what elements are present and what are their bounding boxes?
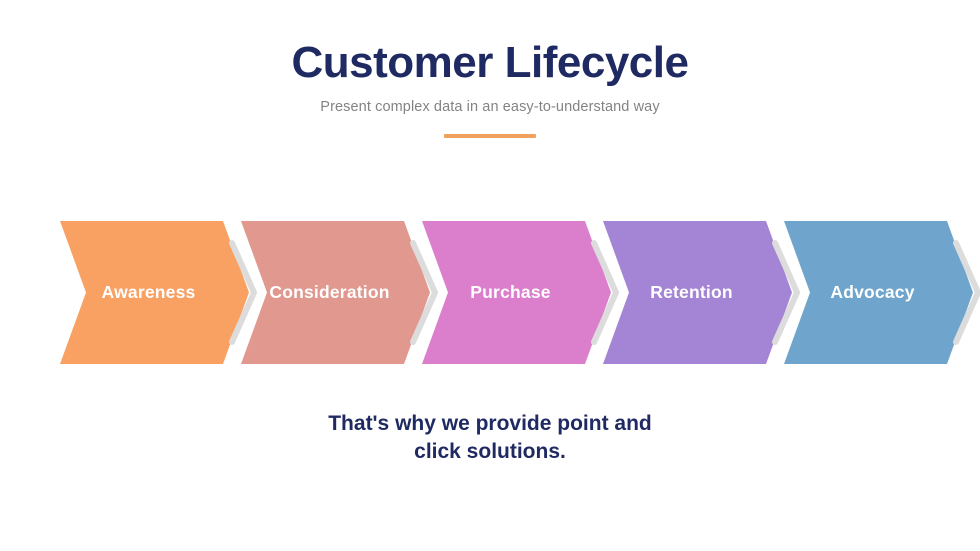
process-stage-label-1: Awareness xyxy=(102,282,196,302)
header: Customer Lifecycle Present complex data … xyxy=(0,0,980,138)
footer-caption-line-1: That's why we provide point and xyxy=(0,410,980,438)
footer-caption: That's why we provide point and click so… xyxy=(0,410,980,467)
footer-caption-line-2: click solutions. xyxy=(0,438,980,466)
process-stage-label-4: Retention xyxy=(650,282,733,302)
process-stage-label-3: Purchase xyxy=(470,282,550,302)
process-stage-label-2: Consideration xyxy=(269,282,389,302)
page-title: Customer Lifecycle xyxy=(0,0,980,87)
page-subtitle: Present complex data in an easy-to-under… xyxy=(0,87,980,115)
process-flow-diagram: AwarenessConsiderationPurchaseRetentionA… xyxy=(0,204,980,384)
process-stage-label-5: Advocacy xyxy=(830,282,914,302)
process-flow-svg: AwarenessConsiderationPurchaseRetentionA… xyxy=(0,204,980,384)
title-divider xyxy=(444,134,536,138)
